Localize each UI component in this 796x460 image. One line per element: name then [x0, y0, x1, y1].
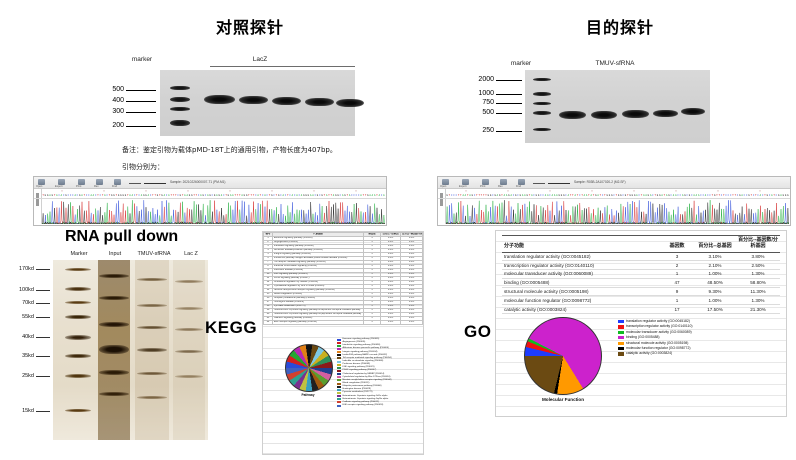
- marker-band: [533, 92, 551, 96]
- target-mw-tick-1000: [496, 94, 522, 95]
- control-mw-500: 500: [102, 86, 124, 93]
- pulldown-tick-35kd: [36, 356, 50, 357]
- tmuv-band: [137, 326, 167, 329]
- print-label: Print: [480, 185, 485, 188]
- legend-swatch: [618, 331, 624, 334]
- target-mw-500: 500: [470, 109, 494, 116]
- lacz-band: [175, 350, 203, 353]
- table-row: 22EGF receptor signaling pathway (P00018…: [264, 321, 423, 325]
- control-lane-group-label: LacZ: [220, 56, 300, 63]
- pulldown-mw-15kd: 15kd: [8, 408, 34, 414]
- table-cell: 21.30%: [736, 305, 780, 314]
- legend-swatch: [337, 351, 341, 353]
- chromatogram-right-ruler-ticks: GTCCCTTAATAGCTTTTTGGCGAGTAAGACGCGAAGTACG…: [446, 190, 789, 197]
- go-col-pct-total: 百分比--总基因: [694, 236, 736, 253]
- table-cell: 11.30%: [736, 287, 780, 296]
- control-probe-panel: 对照探针 marker LacZ 500 400 300 200: [100, 8, 400, 138]
- go-pie-legend: translation regulator activity (GO:00451…: [618, 319, 780, 357]
- go-section-label: GO: [464, 322, 491, 342]
- table-cell: 1.0%: [401, 321, 423, 325]
- svg-text:G: G: [787, 194, 789, 197]
- table-cell: 22: [264, 321, 273, 325]
- toolbar-divider: [533, 183, 545, 184]
- table-cell: 1.00%: [694, 270, 736, 279]
- pulldown-mw-70kd: 70kd: [8, 300, 34, 306]
- caption-line-2: 引物分别为：: [122, 162, 164, 172]
- lacz-band: [175, 375, 203, 378]
- marker-band: [533, 102, 551, 105]
- table-cell: 1: [660, 270, 694, 279]
- legend-swatch: [337, 392, 341, 394]
- sample-band: [272, 97, 301, 105]
- table-cell: 3.10%: [694, 252, 736, 261]
- pulldown-tick-40kd: [36, 337, 50, 338]
- input-band: [99, 274, 129, 278]
- target-mw-250: 250: [470, 127, 494, 134]
- lacz-band: [175, 328, 203, 331]
- table-cell: 3: [660, 252, 694, 261]
- table-cell: 9: [660, 287, 694, 296]
- table-cell: 9.30%: [694, 287, 736, 296]
- legend-label: EGF receptor signaling pathway (P00018): [343, 404, 384, 407]
- control-mw-300: 300: [102, 108, 124, 115]
- legend-swatch: [618, 347, 624, 350]
- table-cell: 2: [660, 261, 694, 270]
- legend-swatch: [337, 376, 341, 378]
- pulldown-tick-70kd: [36, 303, 50, 304]
- go-panel: 分子功能 基因数 百分比--总基因 百分比--基因数/分析基因 translat…: [495, 230, 787, 417]
- marker-band: [65, 354, 91, 358]
- table-cell: 48.50%: [694, 278, 736, 287]
- open-label: Open: [440, 185, 446, 188]
- legend-swatch: [618, 325, 624, 328]
- legend-swatch: [337, 339, 341, 341]
- table-row: molecular function regulator (GO:0098772…: [502, 296, 780, 305]
- sample-band: [622, 110, 649, 118]
- go-col-genes: 基因数: [660, 236, 694, 253]
- pulldown-tick-25kd: [36, 376, 50, 377]
- target-probe-title: 目的探针: [500, 14, 740, 38]
- legend-swatch: [337, 373, 341, 375]
- control-gel-image: [160, 70, 355, 136]
- target-mw-tick-500: [496, 113, 522, 114]
- control-marker-label: marker: [117, 56, 167, 63]
- go-table-header-row: 分子功能 基因数 百分比--总基因 百分比--基因数/分析基因: [502, 236, 780, 253]
- legend-swatch: [337, 345, 341, 347]
- chromatogram-left-trace: [42, 197, 385, 224]
- svg-text:A: A: [383, 194, 385, 197]
- find-label: Find: [112, 185, 117, 188]
- table-cell: 3.80%: [736, 252, 780, 261]
- legend-swatch: [337, 354, 341, 356]
- table-cell: 1.30%: [736, 270, 780, 279]
- marker-band: [65, 374, 91, 378]
- pulldown-tick-170kd: [36, 269, 50, 270]
- control-mw-200: 200: [102, 122, 124, 129]
- table-cell: structural molecule activity (GO:0005198…: [502, 287, 660, 296]
- legend-swatch: [337, 386, 341, 388]
- table-cell: binding (GO:0005488): [502, 278, 660, 287]
- legend-swatch: [618, 320, 624, 323]
- table-cell: 2.50%: [736, 261, 780, 270]
- target-lane-group-label: TMUV-sfRNA: [575, 60, 655, 67]
- target-mw-tick-750: [496, 103, 522, 104]
- table-cell: transcription regulator activity (GO:014…: [502, 261, 660, 270]
- control-mw-tick-200: [126, 126, 156, 127]
- legend-swatch: [337, 389, 341, 391]
- marker-band: [65, 335, 91, 340]
- chromatogram-left[interactable]: Open Export Print Rev Find Sample: 20210…: [33, 176, 387, 226]
- input-band: [99, 296, 129, 300]
- legend-swatch: [337, 370, 341, 372]
- table-cell: 58.80%: [736, 278, 780, 287]
- pulldown-lane-lacz: Lac Z: [176, 251, 206, 257]
- marker-band: [170, 86, 190, 90]
- marker-band: [170, 107, 190, 111]
- marker-band: [533, 111, 551, 115]
- go-pie-chart: [524, 317, 602, 395]
- pulldown-tick-15kd: [36, 411, 50, 412]
- kegg-table: 编号 代谢通路 基因数 百分比--总基因 百分比--基因数/分析基因 1Exos…: [263, 232, 423, 325]
- legend-swatch: [337, 357, 341, 359]
- sample-band: [204, 95, 235, 104]
- table-cell: 2.10%: [694, 261, 736, 270]
- pulldown-lane-marker: Marker: [63, 251, 95, 257]
- pulldown-gel-image: [53, 260, 208, 440]
- legend-swatch: [337, 395, 341, 397]
- legend-swatch: [618, 336, 624, 339]
- export-label: Export: [55, 185, 63, 188]
- tmuv-band: [137, 348, 167, 352]
- legend-swatch: [337, 342, 341, 344]
- table-cell: 1: [364, 321, 381, 325]
- sample-band: [239, 96, 268, 104]
- chromatogram-left-sample-label: Sample: 20210226000007-T1 (PM-M1): [170, 180, 225, 184]
- legend-swatch: [337, 383, 341, 385]
- control-mw-tick-300: [126, 112, 156, 113]
- marker-band: [170, 120, 190, 126]
- target-gel-image: [525, 70, 710, 143]
- table-cell: 1: [660, 296, 694, 305]
- pulldown-mw-40kd: 40kd: [8, 334, 34, 340]
- table-row: translation regulator activity (GO:00451…: [502, 252, 780, 261]
- go-table: 分子功能 基因数 百分比--总基因 百分比--基因数/分析基因 translat…: [502, 235, 780, 314]
- go-pie-caption: Molecular Function: [518, 397, 608, 402]
- table-row: binding (GO:0005488)4748.50%58.80%: [502, 278, 780, 287]
- table-cell: 1.30%: [736, 296, 780, 305]
- chromatogram-right-sample-label: Sample: R03B-2A107020-2 (M2-SF): [574, 180, 626, 184]
- pulldown-mw-35kd: 35kd: [8, 353, 34, 359]
- target-mw-1000: 1000: [470, 90, 494, 97]
- control-lane-rule: [210, 66, 355, 67]
- pulldown-mw-100kd: 100kd: [8, 287, 34, 293]
- legend-swatch: [337, 348, 341, 350]
- control-mw-400: 400: [102, 97, 124, 104]
- pulldown-lane-input: Input: [101, 251, 129, 257]
- kegg-pie-chart: [285, 344, 333, 392]
- sample-band: [559, 111, 586, 119]
- table-cell: 17: [660, 305, 694, 314]
- legend-swatch: [618, 342, 624, 345]
- control-probe-title: 对照探针: [100, 14, 400, 38]
- table-cell: molecular function regulator (GO:0098772…: [502, 296, 660, 305]
- legend-swatch: [337, 401, 341, 403]
- table-row: structural molecule activity (GO:0005198…: [502, 287, 780, 296]
- legend-swatch: [337, 405, 341, 407]
- kegg-pie-caption: Pathway: [285, 393, 331, 397]
- sample-band: [336, 99, 364, 107]
- pulldown-mw-55kd: 55kd: [8, 314, 34, 320]
- toolbar-divider: [144, 183, 166, 184]
- sample-band: [681, 108, 705, 115]
- pulldown-tick-100kd: [36, 290, 50, 291]
- lacz-band: [175, 307, 203, 310]
- go-col-function: 分子功能: [502, 236, 660, 253]
- legend-swatch: [337, 398, 341, 400]
- caption-line-1: 备注：鉴定引物为载体pMD-18T上的通用引物，产物长度为407bp。: [122, 145, 337, 155]
- marker-band: [533, 128, 551, 131]
- table-cell: EGF receptor signaling pathway (P00018): [273, 321, 364, 325]
- open-label: Open: [36, 185, 42, 188]
- kegg-pie-legend: Exosome signaling pathway (P00005)Angiog…: [337, 338, 421, 407]
- pulldown-mw-170kd: 170kd: [8, 266, 34, 272]
- lacz-band: [175, 280, 203, 283]
- table-cell: molecular transducer activity (GO:006008…: [502, 270, 660, 279]
- pulldown-lane-tmuv: TMUV-sfRNA: [131, 251, 177, 257]
- legend-swatch: [618, 352, 624, 355]
- legend-swatch: [337, 379, 341, 381]
- legend-item: EGF receptor signaling pathway (P00018): [337, 404, 421, 407]
- control-mw-tick-500: [126, 90, 156, 91]
- marker-band: [65, 409, 91, 412]
- input-band: [99, 345, 129, 354]
- marker-band: [170, 97, 190, 102]
- sample-band: [653, 110, 678, 117]
- marker-band: [65, 268, 91, 271]
- table-cell: catalytic activity (GO:0003824): [502, 305, 660, 314]
- input-band: [99, 392, 129, 396]
- export-label: Export: [459, 185, 467, 188]
- legend-swatch: [337, 364, 341, 366]
- marker-band: [65, 315, 91, 319]
- print-label: Print: [76, 185, 81, 188]
- target-mw-tick-2000: [496, 80, 522, 81]
- chromatogram-left-ruler-ticks: TGGAGTACACGCCCACGATCCAACTCTACTGGTGGGGTAA…: [42, 190, 385, 197]
- legend-swatch: [337, 367, 341, 369]
- target-mw-2000: 2000: [470, 76, 494, 83]
- chromatogram-right[interactable]: Open Export Print Rev Find Sample: R03B-…: [437, 176, 791, 226]
- legend-item: catalytic activity (GO:0003824): [618, 351, 780, 356]
- sample-band: [591, 111, 617, 119]
- marker-band: [65, 301, 91, 304]
- table-row: catalytic activity (GO:0003824)1717.50%2…: [502, 305, 780, 314]
- target-mw-750: 750: [470, 99, 494, 106]
- table-cell: 1.0%: [381, 321, 401, 325]
- rna-pulldown-panel: RNA pull down Marker Input TMUV-sfRNA La…: [45, 228, 220, 443]
- table-row: transcription regulator activity (GO:014…: [502, 261, 780, 270]
- sample-band: [305, 98, 334, 106]
- tmuv-band: [137, 372, 167, 375]
- table-cell: 47: [660, 278, 694, 287]
- legend-swatch: [337, 361, 341, 363]
- kegg-panel: 编号 代谢通路 基因数 百分比--总基因 百分比--基因数/分析基因 1Exos…: [262, 231, 424, 455]
- toolbar-divider: [129, 183, 141, 184]
- target-probe-panel: 目的探针 marker TMUV-sfRNA 2000 1000 750 500…: [480, 8, 780, 138]
- table-cell: translation regulator activity (GO:00451…: [502, 252, 660, 261]
- chromatogram-right-trace: [446, 197, 789, 224]
- table-row: molecular transducer activity (GO:006008…: [502, 270, 780, 279]
- input-band: [99, 370, 129, 375]
- input-band: [99, 322, 129, 327]
- go-col-pct-analyzed: 百分比--基因数/分析基因: [736, 236, 780, 253]
- rev-label: Rev: [498, 185, 503, 188]
- target-mw-tick-250: [496, 131, 522, 132]
- pulldown-mw-25kd: 25kd: [8, 373, 34, 379]
- kegg-section-label: KEGG: [205, 318, 257, 338]
- legend-label: catalytic activity (GO:0003824): [626, 351, 672, 356]
- tmuv-band: [137, 396, 167, 399]
- table-cell: 1.00%: [694, 296, 736, 305]
- tmuv-band: [137, 278, 167, 281]
- marker-band: [65, 287, 91, 291]
- find-label: Find: [516, 185, 521, 188]
- rna-pulldown-title: RNA pull down: [65, 228, 178, 246]
- table-cell: 17.50%: [694, 305, 736, 314]
- rev-label: Rev: [94, 185, 99, 188]
- marker-band: [533, 78, 551, 81]
- toolbar-divider: [548, 183, 570, 184]
- pulldown-tick-55kd: [36, 317, 50, 318]
- tmuv-band: [137, 304, 167, 307]
- target-marker-label: marker: [500, 60, 542, 67]
- control-mw-tick-400: [126, 101, 156, 102]
